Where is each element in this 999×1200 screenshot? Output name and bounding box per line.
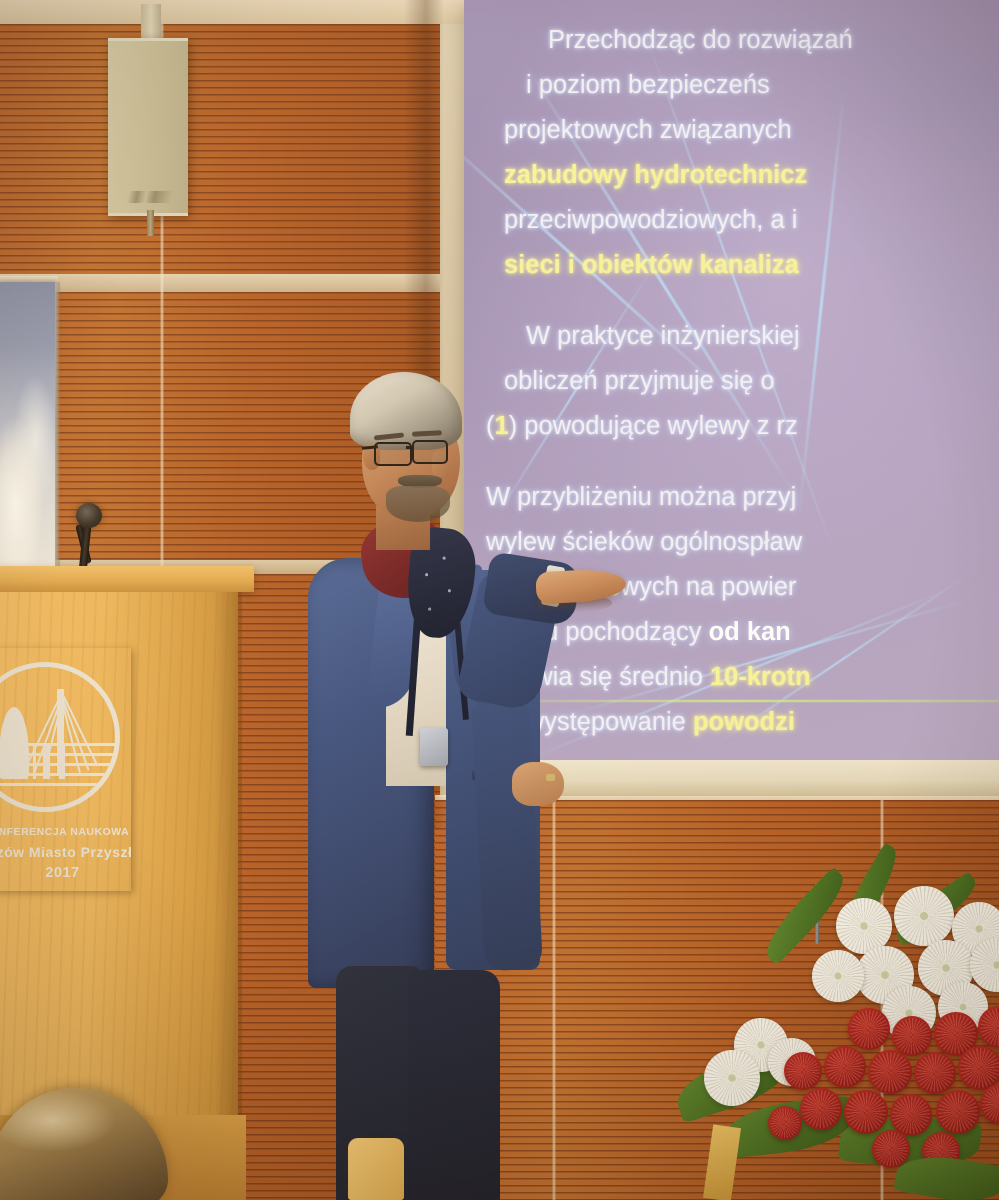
slide-line-1: Przechodząc do rozwiązań — [464, 18, 999, 63]
red-flower-2 — [892, 1016, 932, 1056]
loudspeaker-brand-mark — [127, 191, 174, 203]
glasses-lens-right — [412, 440, 448, 464]
presenter — [300, 370, 600, 1200]
presenter-hair — [350, 372, 462, 450]
wooden-slat-wall-upper-left — [0, 24, 440, 274]
slide-text-run: i poziom bezpieczeńs — [526, 71, 770, 99]
slide-text-run: sieci i obiektów kanaliza — [504, 251, 799, 279]
white-flower-11 — [704, 1050, 760, 1106]
slide-text-run: W praktyce inżynierskiej — [526, 322, 800, 350]
red-flower-9 — [784, 1052, 822, 1090]
slide-line-7: W praktyce inżynierskiej — [464, 314, 999, 359]
slide-text-run: przeciwpowodziowych, a i — [504, 206, 797, 234]
red-flower-5 — [824, 1046, 866, 1088]
red-flower-13 — [936, 1090, 980, 1134]
red-flower-1 — [848, 1008, 890, 1050]
conference-logo-plaque: KONFERENCJA NAUKOWA eszów Miasto Przyszł… — [0, 648, 131, 891]
slide-text-run: 10-krotn — [710, 663, 811, 691]
logo-water-lines — [0, 743, 115, 789]
wall-divider-band-upper — [0, 274, 440, 292]
slide-line-4: zabudowy hydrotechnicz — [464, 153, 999, 198]
red-flower-10 — [800, 1088, 842, 1130]
white-flower-2 — [894, 886, 954, 946]
logo-line-event-name: eszów Miasto Przyszłości — [0, 844, 131, 860]
slide-text-run: projektowych związanych — [504, 116, 792, 144]
presenter-beard — [386, 486, 450, 522]
slide-text-run: zabudowy hydrotechnicz — [504, 161, 807, 189]
trouser-leg-right — [408, 970, 500, 1200]
slide-text-run: od kan — [709, 618, 791, 646]
presenter-left-hand — [512, 762, 564, 806]
finger-ring — [546, 774, 555, 781]
red-flower-11 — [844, 1090, 888, 1134]
conference-photo: Przechodząc do rozwiązańi poziom bezpiec… — [0, 0, 999, 1200]
red-flower-16 — [872, 1130, 910, 1168]
chair-back — [348, 1138, 404, 1200]
loudspeaker-lower-rod — [147, 210, 154, 236]
slide-line-3: projektowych związanych — [464, 108, 999, 153]
slide-line-2: i poziom bezpieczeńs — [464, 63, 999, 108]
slide-line-5: przeciwpowodziowych, a i — [464, 198, 999, 243]
red-flower-12 — [890, 1094, 932, 1136]
slide-text-run: Przechodząc do rozwiązań — [548, 26, 853, 54]
logo-circle-frame — [0, 662, 120, 812]
rollup-banner-edge — [55, 282, 60, 570]
logo-line-event-type: KONFERENCJA NAUKOWA — [0, 826, 131, 838]
red-flower-14 — [980, 1084, 999, 1124]
slide-line-6: sieci i obiektów kanaliza — [464, 243, 999, 288]
red-flower-7 — [914, 1052, 956, 1094]
red-flower-6 — [868, 1050, 912, 1094]
red-flower-15 — [768, 1106, 802, 1140]
red-flower-8 — [958, 1046, 999, 1090]
microphone-icon — [76, 503, 102, 528]
white-flower-7 — [812, 950, 864, 1002]
floral-arrangement — [690, 890, 999, 1200]
lectern-top-surface — [0, 566, 254, 592]
loudspeaker-mount-stem — [141, 4, 161, 42]
bouquet-ribbon — [703, 1124, 741, 1200]
slide-text-run: powodzi — [693, 708, 795, 736]
name-badge — [420, 728, 448, 766]
lectern-side-shadow — [214, 592, 242, 1152]
logo-line-year: 2017 — [0, 865, 131, 881]
rollup-banner-sky-graphic — [0, 282, 55, 570]
ceiling-loudspeaker — [108, 38, 188, 216]
